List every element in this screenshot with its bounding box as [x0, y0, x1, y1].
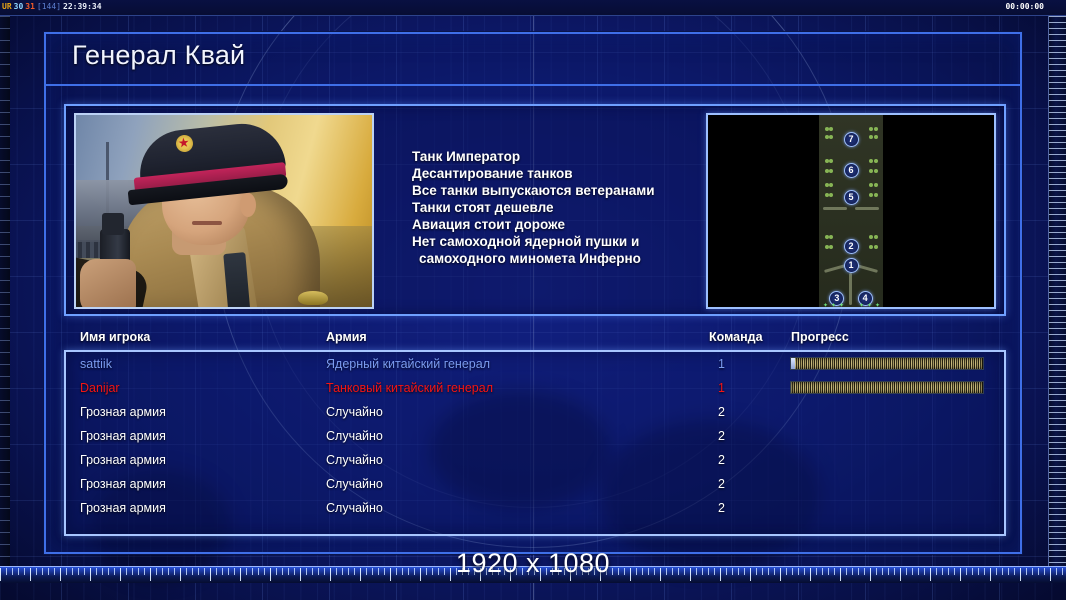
column-header-team: Команда: [709, 330, 763, 344]
map-road: [823, 207, 847, 210]
general-portrait: [74, 113, 374, 309]
description-line: Авиация стоит дороже: [412, 216, 742, 233]
title-bar: Генерал Квай: [46, 34, 1020, 86]
player-name: Danijar: [80, 376, 120, 400]
map-foliage: [874, 193, 878, 197]
page-title: Генерал Квай: [72, 40, 245, 71]
map-foliage: [829, 169, 833, 173]
portrait-medal: [298, 291, 328, 305]
map-foliage: [869, 169, 873, 173]
general-info-panel: Танк ИмператорДесантирование танковВсе т…: [64, 104, 1006, 316]
player-name: Грозная армия: [80, 424, 166, 448]
progress-bar-fill: [791, 358, 983, 369]
map-foliage: [829, 235, 833, 239]
map-foliage: [874, 245, 878, 249]
description-line: Танки стоят дешевле: [412, 199, 742, 216]
player-list: sattiikЯдерный китайский генерал1Danijar…: [64, 350, 1006, 536]
player-row[interactable]: Грозная армияСлучайно2: [66, 496, 1004, 520]
player-list-header: Имя игрока Армия Команда Прогресс: [64, 330, 1006, 350]
description-line: самоходного миномета Инферно: [412, 250, 742, 267]
map-terrain: 7652134✦✦✦✦✦✦: [819, 115, 883, 309]
map-foliage: [874, 183, 878, 187]
session-time: 22:39:34: [63, 2, 102, 11]
description-line: Десантирование танков: [412, 165, 742, 182]
map-foliage: [829, 127, 833, 131]
map-start-position[interactable]: 7: [844, 132, 859, 147]
fps-readout: UR3031[144]22:39:34: [2, 2, 104, 12]
description-line: Все танки выпускаются ветеранами: [412, 182, 742, 199]
map-foliage: [874, 169, 878, 173]
map-start-position[interactable]: 2: [844, 239, 859, 254]
map-supply-marker: ✦: [839, 303, 844, 309]
map-foliage: [869, 127, 873, 131]
player-team: 2: [718, 472, 725, 496]
map-foliage: [869, 159, 873, 163]
player-row[interactable]: Грозная армияСлучайно2: [66, 448, 1004, 472]
general-description: Танк ИмператорДесантирование танковВсе т…: [412, 148, 742, 267]
portrait-mouth: [192, 221, 222, 225]
hud-ruler-left: [0, 16, 10, 582]
map-foliage: [829, 135, 833, 139]
fps-bracket: [144]: [37, 2, 61, 11]
map-supply-marker: ✦: [859, 303, 864, 309]
player-row[interactable]: Грозная армияСлучайно2: [66, 472, 1004, 496]
map-foliage: [829, 183, 833, 187]
main-panel: Генерал Квай: [44, 32, 1022, 554]
map-road: [849, 273, 852, 305]
player-team: 2: [718, 400, 725, 424]
hud-ruler-top: [0, 0, 1066, 16]
progress-bar: [790, 381, 984, 394]
description-line: Нет самоходной ядерной пушки и: [412, 233, 742, 250]
game-lobby-screen: UR3031[144]22:39:34 00:00:00 Генерал Ква…: [0, 0, 1066, 600]
progress-bar-cap: [791, 358, 795, 369]
column-header-name: Имя игрока: [80, 330, 150, 344]
map-preview[interactable]: 7652134✦✦✦✦✦✦: [706, 113, 996, 309]
progress-bar: [790, 357, 984, 370]
map-supply-marker: ✦: [875, 303, 880, 309]
map-foliage: [874, 127, 878, 131]
map-foliage: [829, 193, 833, 197]
column-header-army: Армия: [326, 330, 367, 344]
player-team: 2: [718, 496, 725, 520]
map-foliage: [869, 135, 873, 139]
player-name: Грозная армия: [80, 472, 166, 496]
map-foliage: [829, 245, 833, 249]
map-foliage: [874, 159, 878, 163]
player-row[interactable]: Грозная армияСлучайно2: [66, 400, 1004, 424]
player-army: Случайно: [326, 472, 383, 496]
hud-ruler-right: [1048, 16, 1066, 582]
player-name: Грозная армия: [80, 496, 166, 520]
player-army: Случайно: [326, 400, 383, 424]
fps-label: UR: [2, 2, 12, 11]
player-army: Ядерный китайский генерал: [326, 352, 490, 376]
player-row[interactable]: sattiikЯдерный китайский генерал1: [66, 352, 1004, 376]
map-supply-marker: ✦: [831, 303, 836, 309]
player-team: 1: [718, 376, 725, 400]
map-road: [824, 264, 846, 273]
column-header-progress: Прогресс: [791, 330, 849, 344]
player-army: Случайно: [326, 496, 383, 520]
map-foliage: [869, 245, 873, 249]
map-foliage: [874, 235, 878, 239]
progress-bar-fill: [791, 382, 983, 393]
clock-readout: 00:00:00: [1005, 2, 1044, 12]
map-foliage: [874, 135, 878, 139]
portrait-hand: [80, 259, 136, 309]
map-start-position[interactable]: 1: [844, 258, 859, 273]
player-name: sattiik: [80, 352, 112, 376]
map-foliage: [829, 159, 833, 163]
player-army: Случайно: [326, 448, 383, 472]
map-foliage: [869, 193, 873, 197]
map-road: [856, 264, 878, 273]
player-row[interactable]: Грозная армияСлучайно2: [66, 424, 1004, 448]
player-army: Танковый китайский генерал: [326, 376, 493, 400]
fps-value-b: 31: [25, 2, 35, 11]
map-road: [855, 207, 879, 210]
fps-value-a: 30: [14, 2, 24, 11]
map-start-position[interactable]: 6: [844, 163, 859, 178]
map-supply-marker: ✦: [823, 303, 828, 309]
resolution-overlay: 1920 x 1080: [0, 548, 1066, 579]
portrait-ear: [240, 193, 256, 217]
description-line: Танк Император: [412, 148, 742, 165]
player-team: 2: [718, 424, 725, 448]
map-start-position[interactable]: 5: [844, 190, 859, 205]
player-name: Грозная армия: [80, 448, 166, 472]
map-foliage: [869, 235, 873, 239]
map-foliage: [869, 183, 873, 187]
player-row[interactable]: DanijarТанковый китайский генерал1: [66, 376, 1004, 400]
map-supply-marker: ✦: [867, 303, 872, 309]
player-name: Грозная армия: [80, 400, 166, 424]
player-team: 1: [718, 352, 725, 376]
player-team: 2: [718, 448, 725, 472]
player-army: Случайно: [326, 424, 383, 448]
